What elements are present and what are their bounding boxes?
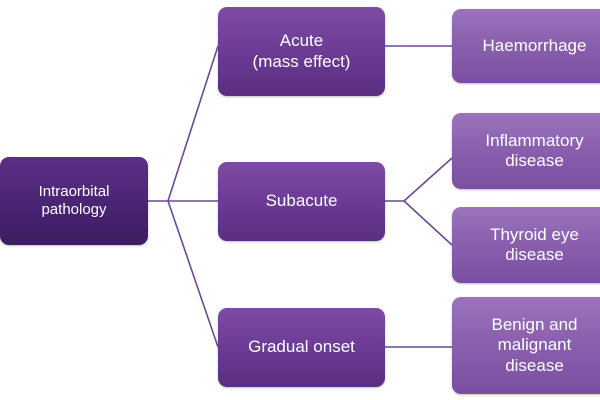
node-label-thyroid-line1: Thyroid eye — [458, 225, 600, 245]
node-intraorbital-pathology: Intraorbital pathology — [0, 157, 148, 245]
node-label-intraorbital-pathology: Intraorbital pathology — [6, 183, 142, 218]
node-label-haemorrhage: Haemorrhage — [458, 36, 600, 56]
node-label-thyroid-eye-disease: Thyroid eye disease — [458, 225, 600, 265]
node-label-acute: Acute (mass effect) — [224, 31, 379, 71]
node-label-benign-malignant-disease: Benign and malignant disease — [458, 315, 600, 375]
node-benign-malignant-disease: Benign and malignant disease — [452, 297, 600, 394]
node-subacute: Subacute — [218, 162, 385, 241]
node-label-thyroid-line2: disease — [458, 245, 600, 265]
node-acute: Acute (mass effect) — [218, 7, 385, 96]
node-label-inflammatory-line2: disease — [458, 151, 600, 171]
node-label-gradual-onset: Gradual onset — [224, 337, 379, 357]
node-label-acute-line1: Acute — [224, 31, 379, 51]
node-label-subacute: Subacute — [224, 191, 379, 211]
node-label-inflammatory-disease: Inflammatory disease — [458, 131, 600, 171]
node-label-inflammatory-line1: Inflammatory — [458, 131, 600, 151]
node-label-acute-line2: (mass effect) — [224, 52, 379, 72]
node-label-benign-line1: Benign and — [458, 315, 600, 335]
node-thyroid-eye-disease: Thyroid eye disease — [452, 207, 600, 283]
node-gradual-onset: Gradual onset — [218, 308, 385, 387]
flowchart: Intraorbital pathology Acute (mass effec… — [0, 0, 600, 400]
node-inflammatory-disease: Inflammatory disease — [452, 113, 600, 189]
node-label-benign-line2: malignant — [458, 335, 600, 355]
node-label-benign-line3: disease — [458, 356, 600, 376]
node-haemorrhage: Haemorrhage — [452, 9, 600, 83]
